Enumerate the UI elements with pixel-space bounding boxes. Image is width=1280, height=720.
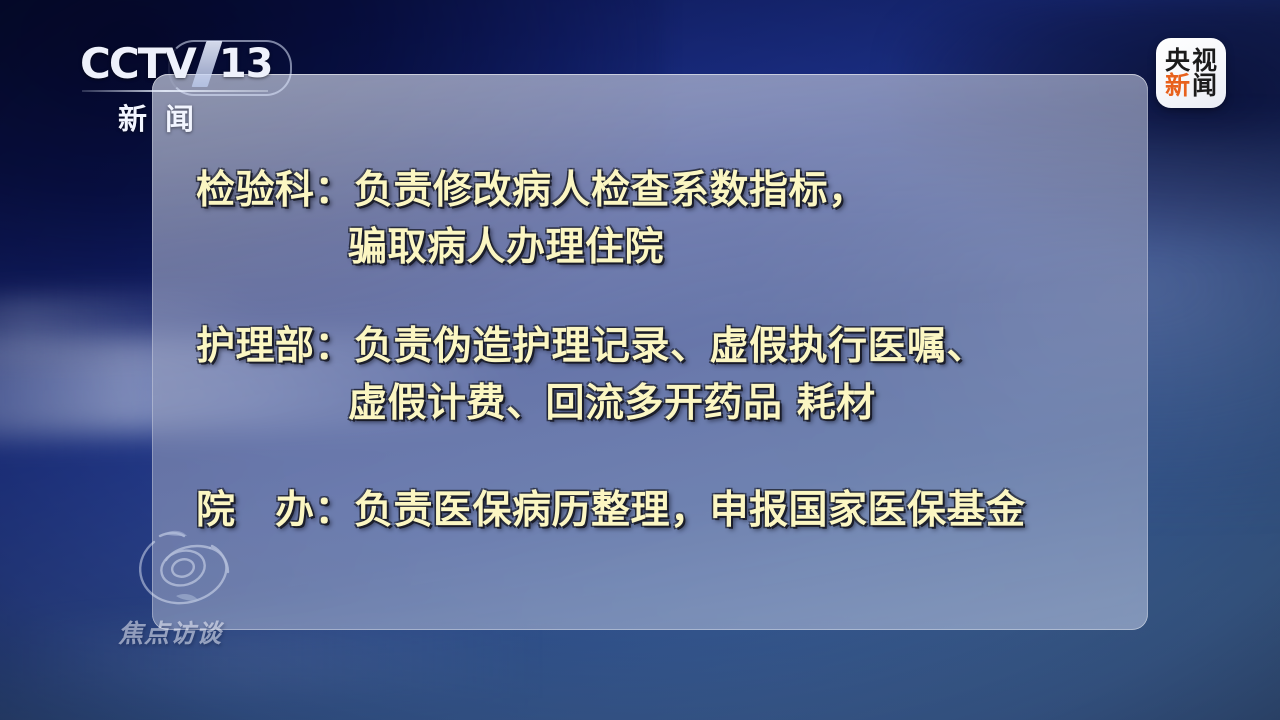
program-watermark: 焦点访谈 bbox=[112, 524, 287, 649]
cctv-news-logo: 央 视 新 闻 bbox=[1156, 38, 1226, 108]
program-watermark-title: 焦点访谈 bbox=[118, 614, 222, 650]
caption-line: 虚假计费、回流多开药品 耗材 bbox=[152, 375, 1148, 432]
cctv-news-logo-row-2: 新 闻 bbox=[1165, 73, 1217, 98]
cctv-news-char-shi: 视 bbox=[1192, 48, 1217, 73]
cctv-news-char-wen: 闻 bbox=[1192, 73, 1217, 98]
cctv-news-char-yang: 央 bbox=[1165, 48, 1190, 73]
cctv-channel-number: 13 bbox=[219, 44, 273, 84]
broadcast-screenshot: 检验科：负责修改病人检查系数指标， 骗取病人办理住院 护理部：负责伪造护理记录、… bbox=[0, 0, 1280, 720]
caption-line: 骗取病人办理住院 bbox=[152, 219, 1148, 276]
caption-line: 护理部：负责伪造护理记录、虚假执行医嘱、 bbox=[152, 318, 1148, 375]
cctv13-channel-bug: CCTV 13 新闻 bbox=[80, 38, 280, 138]
swirl-eye-icon bbox=[124, 524, 242, 612]
caption-block-hospital-office: 院 办：负责医保病历整理，申报国家医保基金 bbox=[152, 482, 1148, 539]
caption-line: 检验科：负责修改病人检查系数指标， bbox=[152, 162, 1148, 219]
cctv-channel-name: 新闻 bbox=[94, 96, 212, 138]
caption-block-inspection-dept: 检验科：负责修改病人检查系数指标， 骗取病人办理住院 bbox=[152, 162, 1148, 276]
cctv-underline-rule bbox=[82, 90, 268, 92]
cctv-news-logo-row-1: 央 视 bbox=[1165, 48, 1217, 73]
caption-text-area: 检验科：负责修改病人检查系数指标， 骗取病人办理住院 护理部：负责伪造护理记录、… bbox=[152, 74, 1148, 630]
cctv-slash-divider bbox=[191, 41, 222, 87]
caption-block-nursing-dept: 护理部：负责伪造护理记录、虚假执行医嘱、 虚假计费、回流多开药品 耗材 bbox=[152, 318, 1148, 432]
cctv-news-char-xin: 新 bbox=[1165, 73, 1190, 98]
cctv-logo-row: CCTV 13 bbox=[80, 38, 280, 90]
caption-line: 院 办：负责医保病历整理，申报国家医保基金 bbox=[152, 482, 1148, 539]
cctv-wordmark: CCTV bbox=[80, 43, 195, 85]
